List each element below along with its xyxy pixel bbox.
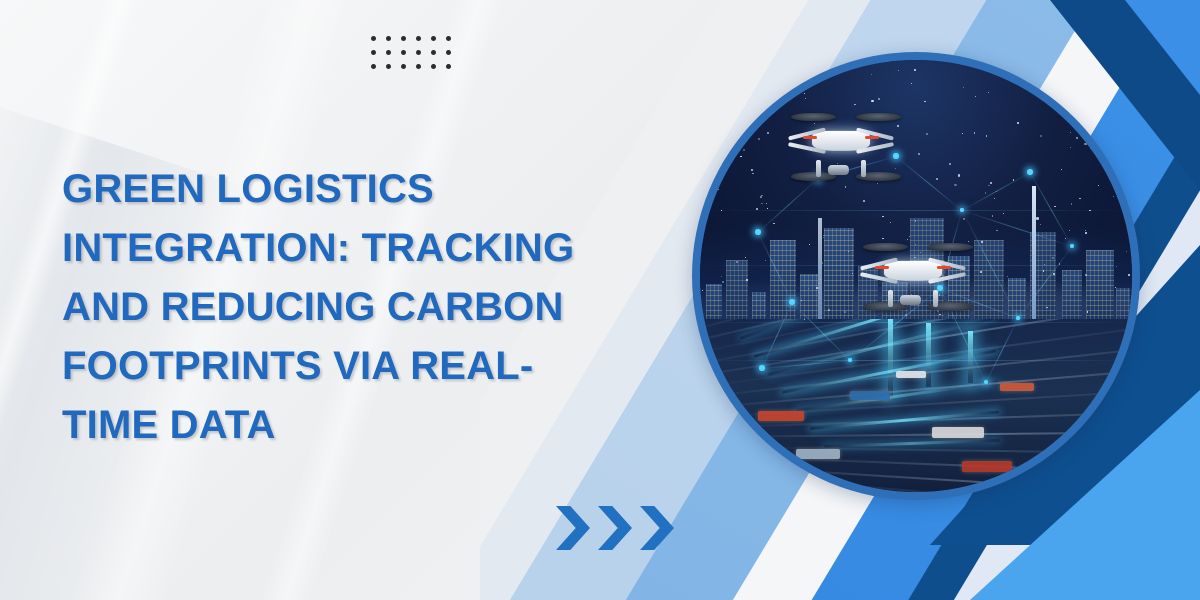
dot (446, 50, 451, 55)
vehicle (758, 411, 804, 421)
corner-blue-triangle (1125, 0, 1200, 95)
lane-marking (712, 446, 1132, 456)
drone-led (875, 266, 889, 269)
chevron-right-icon (598, 506, 632, 550)
dot (401, 64, 406, 69)
star (1069, 230, 1070, 231)
light-beam (926, 323, 931, 387)
smart-logistics-photo (700, 60, 1132, 492)
drone-rotor (863, 243, 908, 252)
star (1085, 232, 1087, 234)
star (822, 262, 823, 263)
drone-rotor (791, 113, 836, 122)
star (758, 138, 760, 140)
dot (386, 50, 391, 55)
chevron-right-icon (556, 506, 590, 550)
network-sweep (700, 210, 1132, 211)
vehicle (962, 461, 1012, 472)
star (1070, 147, 1071, 148)
star (1131, 80, 1132, 82)
drone-rotor (928, 243, 973, 252)
star (1003, 213, 1004, 214)
star (712, 146, 713, 147)
star (1090, 148, 1091, 149)
drone-icon (778, 102, 904, 180)
star (1051, 63, 1052, 64)
page-title: GREEN LOGISTICS INTEGRATION: TRACKING AN… (62, 160, 622, 455)
chevron-arrows-icon (556, 506, 674, 550)
star (765, 260, 766, 261)
drone-leg (933, 290, 938, 307)
vehicle (932, 427, 984, 438)
dot (386, 36, 391, 41)
star (1046, 307, 1048, 309)
star (1052, 257, 1054, 259)
vehicle (796, 449, 840, 459)
star (735, 92, 736, 93)
dot (431, 64, 436, 69)
star (939, 314, 940, 315)
dot-grid-icon (371, 36, 451, 69)
star (936, 178, 938, 180)
drone-led (803, 136, 817, 139)
star (1087, 311, 1088, 312)
banner-root: GREEN LOGISTICS INTEGRATION: TRACKING AN… (0, 0, 1200, 600)
drone-rotor (856, 113, 901, 122)
star (1085, 230, 1086, 231)
vehicle (1000, 383, 1034, 391)
star (785, 99, 786, 100)
drone-leg (816, 160, 821, 177)
star (752, 173, 753, 174)
drone-camera (900, 295, 920, 305)
star (954, 184, 956, 186)
vehicle (896, 371, 926, 378)
star (745, 257, 746, 258)
dot (371, 50, 376, 55)
light-trail (824, 439, 1000, 448)
star (767, 208, 768, 209)
star (974, 132, 975, 133)
drone-led (937, 266, 951, 269)
star (1104, 107, 1105, 108)
dot (401, 50, 406, 55)
star (766, 203, 767, 204)
star (1077, 110, 1079, 112)
star (746, 279, 748, 281)
dot (386, 64, 391, 69)
drone-icon (850, 232, 976, 310)
vehicle (850, 391, 890, 400)
highway (700, 319, 1132, 492)
star (767, 132, 768, 133)
dot (416, 64, 421, 69)
star (958, 174, 960, 176)
network-sweep (700, 322, 1132, 323)
network-sweep (700, 360, 1132, 361)
star (994, 198, 995, 199)
drone-led (865, 136, 879, 139)
star (804, 93, 805, 94)
star (878, 98, 880, 100)
dot (416, 36, 421, 41)
star (722, 281, 724, 283)
star (1131, 60, 1132, 61)
star (1036, 217, 1038, 219)
dot (371, 36, 376, 41)
lane-marking (706, 430, 1132, 438)
star (809, 244, 810, 245)
star (1017, 122, 1019, 124)
photo-ring (692, 52, 1140, 500)
dot (371, 64, 376, 69)
star (986, 135, 987, 136)
drone-leg (888, 290, 893, 307)
star (980, 271, 982, 273)
dot (431, 36, 436, 41)
star (871, 74, 872, 75)
star (877, 183, 878, 184)
star (1071, 203, 1072, 204)
star (988, 92, 989, 93)
star (915, 220, 917, 222)
star (890, 222, 891, 223)
star (721, 276, 722, 277)
star (723, 102, 725, 104)
dot (416, 50, 421, 55)
star (736, 261, 737, 262)
drone-leg (861, 160, 866, 177)
star (812, 61, 813, 62)
star (898, 70, 899, 71)
chevron-right-icon (640, 506, 674, 550)
light-beam (888, 319, 893, 397)
dot (431, 50, 436, 55)
lane-marking (718, 455, 1132, 479)
dot (446, 36, 451, 41)
star (828, 309, 830, 311)
star (926, 133, 928, 135)
star (949, 163, 950, 164)
radio-tower (1032, 186, 1036, 336)
star (743, 149, 745, 151)
drone-camera (828, 165, 848, 175)
star (801, 300, 802, 301)
dot (401, 36, 406, 41)
dot (446, 64, 451, 69)
star (1112, 182, 1113, 183)
star (1126, 251, 1127, 252)
star (981, 241, 983, 243)
